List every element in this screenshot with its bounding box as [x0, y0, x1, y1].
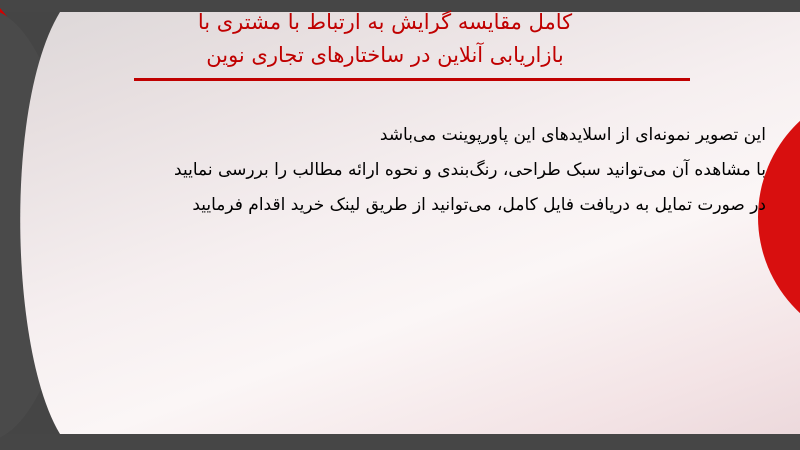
- background-arc-4: [0, 12, 800, 434]
- slide-content-panel: [0, 12, 800, 434]
- slide-title-line-1: کامل مقایسه گرایش به ارتباط با مشتری با: [40, 6, 730, 39]
- body-line-3: در صورت تمایل به دریافت فایل کامل، می‌تو…: [66, 188, 766, 223]
- slide-body-text: این تصویر نمونه‌ای از اسلایدهای این پاور…: [66, 118, 766, 223]
- title-underline: [134, 78, 690, 81]
- background-arc-1: [0, 12, 562, 434]
- body-line-1: این تصویر نمونه‌ای از اسلایدهای این پاور…: [66, 118, 766, 153]
- background-arc-3: [0, 12, 780, 434]
- slide-title: کامل مقایسه گرایش به ارتباط با مشتری با …: [40, 6, 730, 72]
- background-arc-2: [0, 12, 640, 434]
- slide-title-line-2: بازاریابی آنلاین در ساختارهای تجاری نوین: [40, 39, 730, 72]
- background-arc-7: [0, 12, 800, 434]
- body-line-2: با مشاهده آن می‌توانید سبک طراحی، رنگ‌بن…: [66, 153, 766, 188]
- slide-frame-bottom: [0, 434, 800, 450]
- background-arc-6: [0, 12, 800, 434]
- background-arc-5: [0, 12, 800, 434]
- presentation-slide: کامل مقایسه گرایش به ارتباط با مشتری با …: [0, 0, 800, 450]
